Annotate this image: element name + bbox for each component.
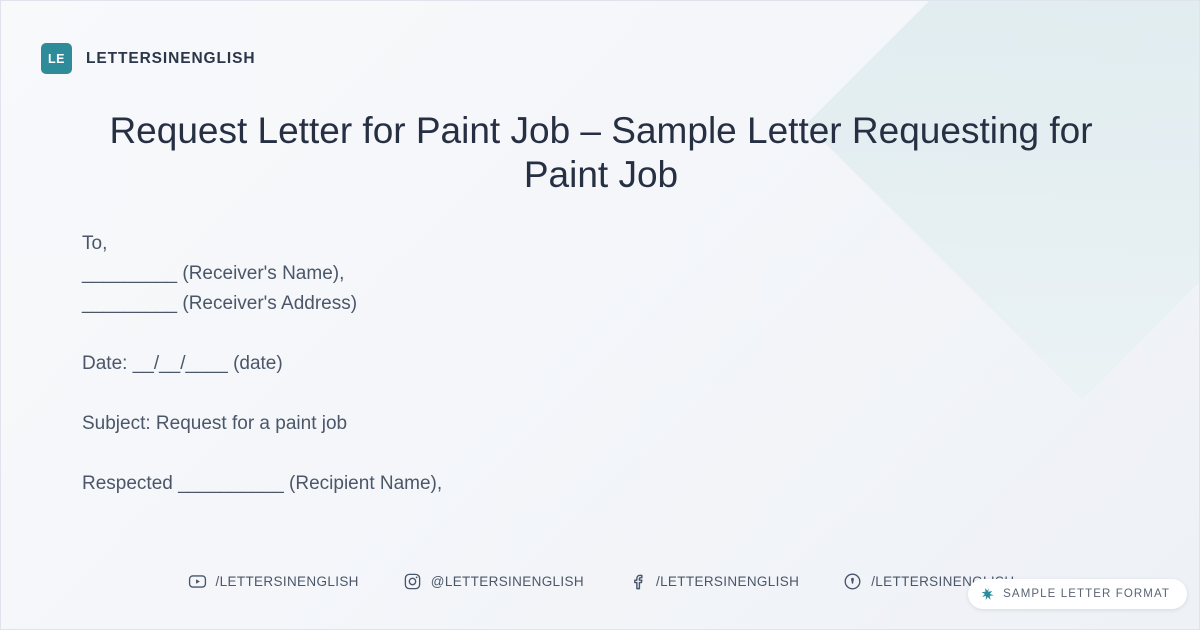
letter-line: Respected __________ (Recipient Name), [82, 469, 982, 499]
lightning-bolt-icon [981, 587, 995, 601]
social-link-instagram[interactable]: @LETTERSINENGLISH [403, 572, 584, 591]
letter-body: To, _________ (Receiver's Name), _______… [82, 229, 982, 499]
letter-line: _________ (Receiver's Address) [82, 289, 982, 319]
letter-line: To, [82, 229, 982, 259]
letter-block-subject: Subject: Request for a paint job [82, 409, 982, 439]
youtube-icon [188, 572, 207, 591]
letter-block-date: Date: __/__/____ (date) [82, 349, 982, 379]
letter-line: _________ (Receiver's Name), [82, 259, 982, 289]
letter-line: Subject: Request for a paint job [82, 409, 982, 439]
facebook-icon [628, 572, 647, 591]
brand-mark-icon: LE [41, 43, 72, 74]
page-title: Request Letter for Paint Job – Sample Le… [101, 109, 1101, 198]
letter-block-address: To, _________ (Receiver's Name), _______… [82, 229, 982, 319]
sample-letter-format-badge[interactable]: SAMPLE LETTER FORMAT [968, 579, 1187, 609]
social-link-youtube[interactable]: /LETTERSINENGLISH [188, 572, 359, 591]
social-label: /LETTERSINENGLISH [216, 574, 359, 589]
brand-name: LETTERSINENGLISH [86, 50, 255, 68]
brand-logo[interactable]: LE LETTERSINENGLISH [41, 43, 255, 74]
badge-label: SAMPLE LETTER FORMAT [1003, 588, 1170, 600]
letter-line: Date: __/__/____ (date) [82, 349, 982, 379]
social-link-facebook[interactable]: /LETTERSINENGLISH [628, 572, 799, 591]
letter-card: LE LETTERSINENGLISH Request Letter for P… [0, 0, 1200, 630]
social-label: @LETTERSINENGLISH [431, 574, 584, 589]
instagram-icon [403, 572, 422, 591]
social-label: /LETTERSINENGLISH [656, 574, 799, 589]
letter-block-salutation: Respected __________ (Recipient Name), [82, 469, 982, 499]
pinterest-icon [843, 572, 862, 591]
